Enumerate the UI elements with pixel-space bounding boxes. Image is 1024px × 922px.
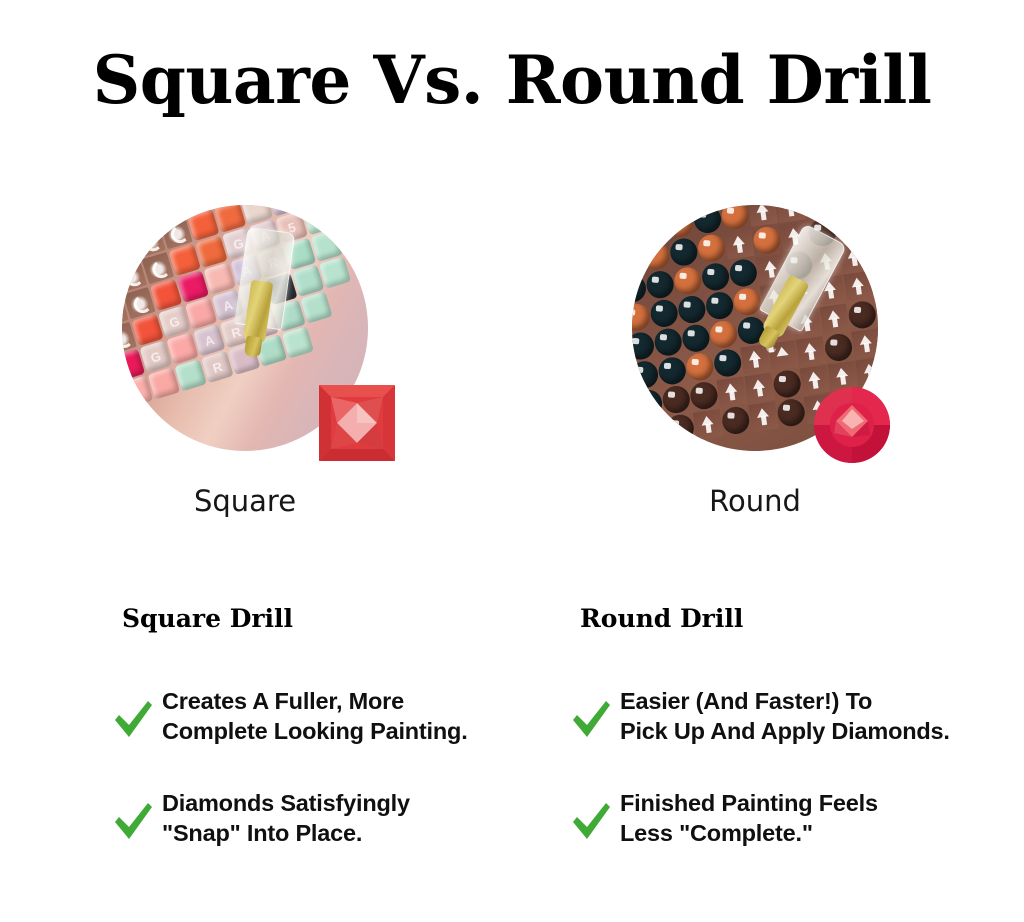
check-icon: [570, 800, 612, 844]
caption-square: Square: [122, 484, 368, 518]
bullet-round-2-text: Finished Painting Feels Less "Complete.": [620, 788, 878, 848]
check-icon: [570, 698, 612, 742]
bullet-round-2: Finished Painting Feels Less "Complete.": [570, 788, 990, 848]
round-drill-gem: [812, 385, 892, 465]
square-photo-cell: [122, 205, 368, 471]
column-square-drill: Square Drill Creates A Fuller, More Comp…: [112, 604, 532, 890]
bullet-square-1-text: Creates A Fuller, More Complete Looking …: [162, 686, 468, 746]
square-drill-gem: [317, 383, 397, 463]
round-photo-cell: [632, 205, 878, 471]
page-title: Square Vs. Round Drill: [0, 44, 1024, 116]
comparison-columns: Square Drill Creates A Fuller, More Comp…: [0, 604, 1024, 894]
bullet-square-2-text: Diamonds Satisfyingly "Snap" Into Place.: [162, 788, 410, 848]
heading-round-drill: Round Drill: [580, 604, 990, 634]
photo-comparison-row: [0, 205, 1024, 475]
bullet-round-1: Easier (And Faster!) To Pick Up And Appl…: [570, 686, 990, 746]
check-icon: [112, 698, 154, 742]
photo-captions: Square Round: [0, 484, 1024, 524]
check-icon: [112, 800, 154, 844]
bullet-square-1: Creates A Fuller, More Complete Looking …: [112, 686, 532, 746]
bullet-square-2: Diamonds Satisfyingly "Snap" Into Place.: [112, 788, 532, 848]
heading-square-drill: Square Drill: [122, 604, 532, 634]
bullet-round-1-text: Easier (And Faster!) To Pick Up And Appl…: [620, 686, 950, 746]
caption-round: Round: [632, 484, 878, 518]
column-round-drill: Round Drill Easier (And Faster!) To Pick…: [570, 604, 990, 890]
